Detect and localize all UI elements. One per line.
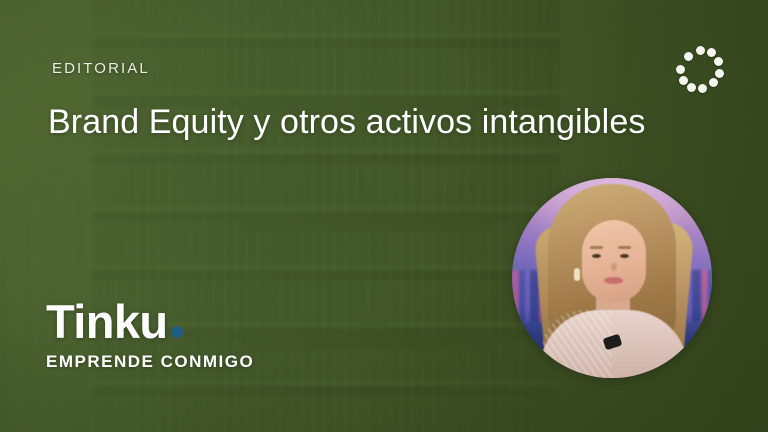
portrait-lips — [604, 277, 623, 284]
ring-dot — [696, 46, 705, 55]
ring-dot — [707, 48, 716, 57]
ring-dot — [709, 78, 718, 87]
ring-dot — [714, 57, 723, 66]
editorial-title-card: EDITORIAL Brand Equity y otros activos i… — [0, 0, 768, 432]
ring-dot — [684, 52, 693, 61]
ring-dot — [687, 83, 696, 92]
ring-dot — [698, 84, 707, 93]
dotted-ring-logo — [676, 46, 724, 94]
brand-lockup: Tinku EMPRENDE CONMIGO — [46, 298, 254, 372]
ring-dot — [679, 76, 688, 85]
portrait-nose — [611, 263, 617, 271]
host-portrait — [512, 178, 712, 378]
brand-dot-icon — [171, 326, 183, 338]
portrait-brow-right — [618, 246, 631, 249]
ring-dot — [715, 69, 724, 78]
brand-wordmark-row: Tinku — [46, 298, 254, 345]
brand-tagline: EMPRENDE CONMIGO — [46, 352, 254, 372]
portrait-earring — [574, 268, 580, 281]
portrait-eye-right — [620, 254, 629, 258]
page-title: Brand Equity y otros activos intangibles — [48, 103, 645, 142]
portrait-face — [582, 220, 646, 302]
portrait-brow-left — [590, 246, 603, 249]
kicker-label: EDITORIAL — [52, 60, 150, 77]
brand-wordmark: Tinku — [46, 298, 167, 345]
portrait-eye-left — [592, 254, 601, 258]
ring-dot — [676, 65, 685, 74]
